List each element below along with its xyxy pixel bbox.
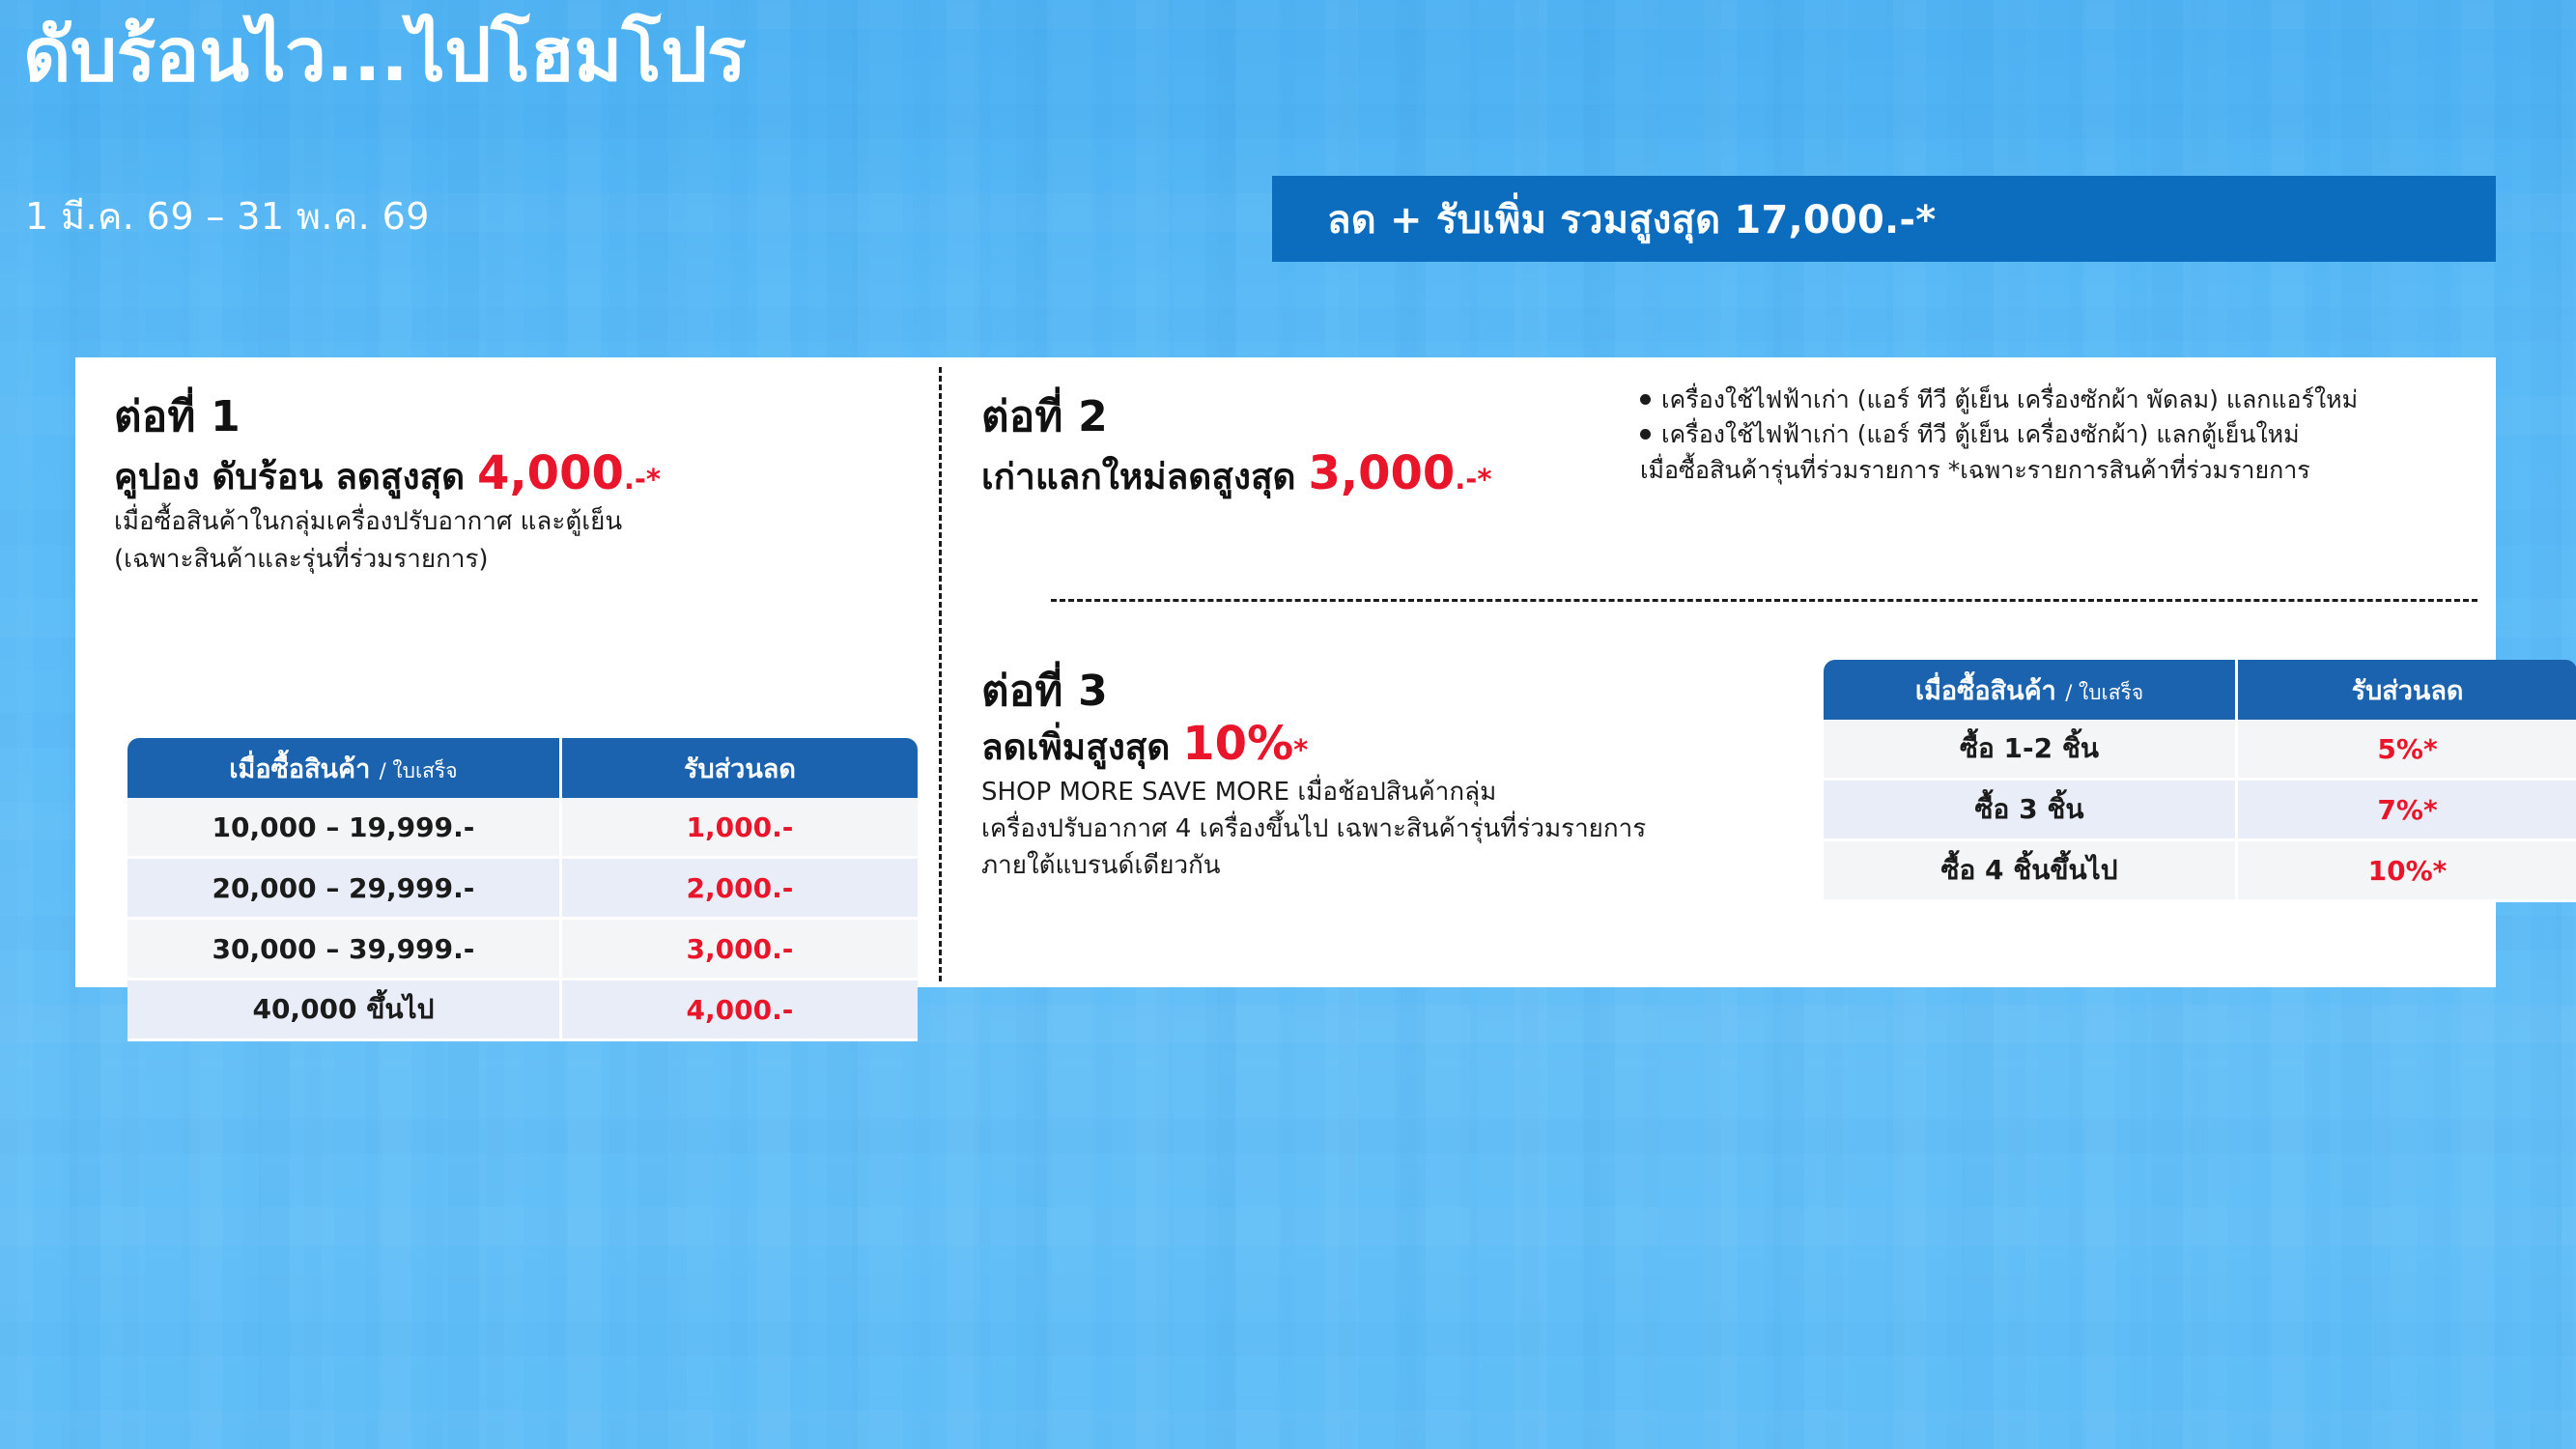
promotion-banner: ดับร้อนไว...ไปโฮมโปร 1 มี.ค. 69 – 31 พ.ค…: [0, 0, 2576, 1449]
offer-3-subtext-3: ภายใต้แบรนด์เดียวกัน: [981, 848, 1221, 884]
offer-1-rate-table: เมื่อซื้อสินค้า / ใบเสร็จ รับส่วนลด 10,0…: [127, 738, 918, 1041]
table-header-purchase-label: เมื่อซื้อสินค้า: [229, 754, 370, 784]
table-header-discount: รับส่วนลด: [562, 738, 918, 798]
offer-3-headline-prefix: ลดเพิ่มสูงสุด: [981, 726, 1170, 768]
bullet-dot-icon: [1640, 394, 1651, 405]
offer-1-number: ต่อที่ 1: [114, 383, 241, 450]
panel-divider-horizontal: [1051, 599, 2477, 602]
offer-3-subtext-1: SHOP MORE SAVE MORE เมื่อช้อปสินค้ากลุ่ม: [981, 775, 1496, 810]
table-header-purchase: เมื่อซื้อสินค้า / ใบเสร็จ: [127, 738, 562, 798]
offer-3-amount-suffix: *: [1293, 733, 1308, 766]
offers-card: ต่อที่ 1 คูปอง ดับร้อน ลดสูงสุด 4,000.-*…: [75, 357, 2496, 987]
offer-2-number: ต่อที่ 2: [981, 383, 1108, 450]
purchase-range: 40,000 ขึ้นไป: [127, 980, 562, 1041]
purchase-range: ซื้อ 1-2 ชิ้น: [1824, 720, 2238, 781]
purchase-range: 10,000 – 19,999.-: [127, 798, 562, 859]
offer-1-panel: ต่อที่ 1 คูปอง ดับร้อน ลดสูงสุด 4,000.-*…: [106, 357, 927, 987]
discount-value: 2,000.-: [562, 859, 918, 920]
purchase-range: ซื้อ 4 ชิ้นขึ้นไป: [1824, 841, 2238, 902]
discount-value: 3,000.-: [562, 920, 918, 980]
table-header-purchase-per: / ใบเสร็จ: [380, 759, 458, 782]
table-row: 10,000 – 19,999.- 1,000.-: [127, 798, 918, 859]
offer-2-amount: 3,000: [1308, 446, 1455, 500]
table-header-purchase-per: / ใบเสร็จ: [2065, 681, 2143, 704]
table-row: ซื้อ 4 ชิ้นขึ้นไป 10%*: [1824, 841, 2576, 902]
table-row: ซื้อ 3 ชิ้น 7%*: [1824, 781, 2576, 841]
table-header-discount: รับส่วนลด: [2238, 660, 2576, 720]
table-row: 40,000 ขึ้นไป 4,000.-: [127, 980, 918, 1041]
offer-2-3-panel: ต่อที่ 2 เก่าแลกใหม่ลดสูงสุด 3,000.-* เค…: [974, 357, 2480, 987]
discount-value: 1,000.-: [562, 798, 918, 859]
discount-value: 4,000.-: [562, 980, 918, 1041]
list-item: เครื่องใช้ไฟฟ้าเก่า (แอร์ ทีวี ตู้เย็น เ…: [1640, 417, 2358, 452]
offer-2-amount-suffix: .-*: [1455, 463, 1491, 496]
table-row: 20,000 – 29,999.- 2,000.-: [127, 859, 918, 920]
table-header-purchase: เมื่อซื้อสินค้า / ใบเสร็จ: [1824, 660, 2238, 720]
purchase-range: ซื้อ 3 ชิ้น: [1824, 781, 2238, 841]
offer-3-amount: 10%: [1182, 717, 1293, 771]
list-item: เครื่องใช้ไฟฟ้าเก่า (แอร์ ทีวี ตู้เย็น เ…: [1640, 383, 2358, 417]
offer-3-rate-table: เมื่อซื้อสินค้า / ใบเสร็จ รับส่วนลด ซื้อ…: [1824, 660, 2576, 902]
discount-value: 7%*: [2238, 781, 2576, 841]
promo-total-badge-text: ลด + รับเพิ่ม รวมสูงสุด 17,000.-*: [1272, 188, 1936, 250]
panel-divider-vertical: [939, 367, 942, 981]
offer-1-amount: 4,000: [477, 446, 624, 500]
purchase-range: 20,000 – 29,999.-: [127, 859, 562, 920]
offer-2-bullet-list: เครื่องใช้ไฟฟ้าเก่า (แอร์ ทีวี ตู้เย็น เ…: [1640, 383, 2358, 488]
discount-value: 10%*: [2238, 841, 2576, 902]
offer-2-note: เมื่อซื้อสินค้ารุ่นที่ร่วมรายการ *เฉพาะร…: [1640, 453, 2358, 488]
offer-1-subtext-1: เมื่อซื้อสินค้าในกลุ่มเครื่องปรับอากาศ แ…: [114, 504, 622, 540]
table-header-row: เมื่อซื้อสินค้า / ใบเสร็จ รับส่วนลด: [127, 738, 918, 798]
offer-2-headline: เก่าแลกใหม่ลดสูงสุด 3,000.-*: [981, 446, 1492, 502]
bullet-text: เครื่องใช้ไฟฟ้าเก่า (แอร์ ทีวี ตู้เย็น เ…: [1661, 420, 2300, 448]
offer-2-headline-prefix: เก่าแลกใหม่ลดสูงสุด: [981, 456, 1296, 497]
table-row: 30,000 – 39,999.- 3,000.-: [127, 920, 918, 980]
purchase-range: 30,000 – 39,999.-: [127, 920, 562, 980]
discount-value: 5%*: [2238, 720, 2576, 781]
promo-total-badge: ลด + รับเพิ่ม รวมสูงสุด 17,000.-*: [1272, 176, 2496, 262]
bullet-text: เครื่องใช้ไฟฟ้าเก่า (แอร์ ทีวี ตู้เย็น เ…: [1661, 385, 2358, 413]
page-title: ดับร้อนไว...ไปโฮมโปร: [23, 14, 746, 96]
offer-3-number: ต่อที่ 3: [981, 657, 1108, 724]
offer-1-headline-prefix: คูปอง ดับร้อน ลดสูงสุด: [114, 456, 465, 497]
promotion-date-range: 1 มี.ค. 69 – 31 พ.ค. 69: [25, 186, 430, 245]
table-header-row: เมื่อซื้อสินค้า / ใบเสร็จ รับส่วนลด: [1824, 660, 2576, 720]
offer-1-headline: คูปอง ดับร้อน ลดสูงสุด 4,000.-*: [114, 446, 661, 502]
offer-3-subtext-2: เครื่องปรับอากาศ 4 เครื่องขึ้นไป เฉพาะสิ…: [981, 811, 1646, 847]
bullet-dot-icon: [1640, 429, 1651, 440]
offer-1-subtext-2: (เฉพาะสินค้าและรุ่นที่ร่วมรายการ): [114, 542, 489, 578]
offer-3-headline: ลดเพิ่มสูงสุด 10%*: [981, 717, 1308, 773]
table-header-purchase-label: เมื่อซื้อสินค้า: [1915, 676, 2056, 706]
table-row: ซื้อ 1-2 ชิ้น 5%*: [1824, 720, 2576, 781]
offer-1-amount-suffix: .-*: [624, 463, 661, 496]
